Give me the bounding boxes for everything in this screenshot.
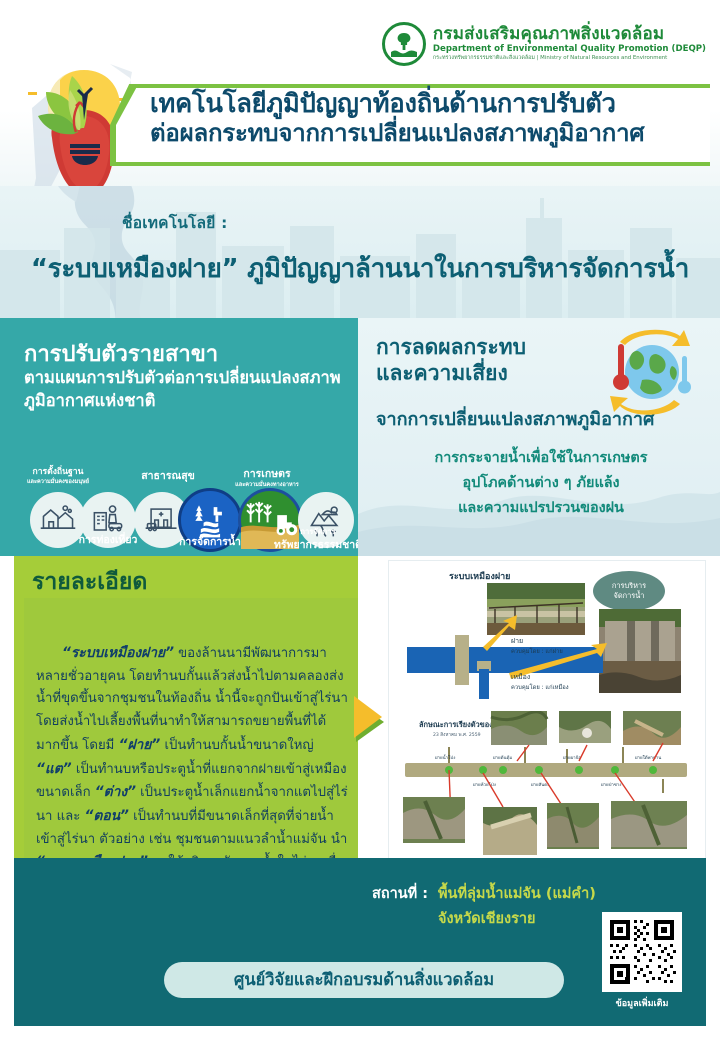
svg-text:ฝายผาจ้อ: ฝายผาจ้อ [563,755,581,761]
mitigation-body-line-2: อุปโภคด้านต่าง ๆ ภัยแล้ง [376,471,706,496]
label-canal: เหมือง [511,673,530,681]
svg-text:ฝายใต้พาดาน: ฝายใต้พาดาน [635,755,661,761]
sector-label-health: สาธารณสุข [118,470,218,482]
qr-code-icon[interactable] [602,912,682,992]
qr-caption: ข้อมูลเพิ่มเติม [602,996,682,1010]
sector-label-natural-resources: การจัดการ ทรัพยากรธรรมชาติ [264,528,372,551]
sector-adaptation-panel: การปรับตัวรายสาขา ตามแผนการปรับตัวต่อการ… [0,318,358,556]
org-ministry: กระทรวงทรัพยากรธรรมชาติและสิ่งแวดล้อม | … [433,56,706,62]
aerial-photo-bottom-1 [403,797,465,843]
page-title: เทคโนโลยีภูมิปัญญาท้องถิ่นด้านการปรับตัว… [150,90,698,146]
org-name-en: Department of Environmental Quality Prom… [433,45,706,54]
location-line-1: พื้นที่ลุ่มน้ำแม่จัน (แม่คำ) [438,882,596,905]
label-canal-sub: ควบคุมโดย : แก่เหมือง [511,683,569,691]
svg-text:ฝายสันดง: ฝายสันดง [531,782,549,788]
svg-text:จัดการน้ำ: จัดการน้ำ [614,590,645,600]
sector-label-agriculture: การเกษตร และความมั่นคงทางอาหาร [212,468,322,488]
location-label: สถานที่ : [372,882,428,905]
title-line-2: ต่อผลกระทบจากการเปลี่ยนแปลงสภาพภูมิอากาศ [150,120,698,147]
mitigation-body-line-1: การกระจายน้ำเพื่อใช้ในการเกษตร [376,446,706,471]
mitigation-panel: การลดผลกระทบ และความเสี่ยง จากการเปลี่ยน… [358,318,720,556]
label-weir: ฝาย [511,637,523,645]
sector-icon-row: การตั้งถิ่นฐาน และความมั่นคงของมนุษย์ [6,466,354,552]
water-management-badge: การบริหาร จัดการน้ำ [593,571,665,611]
cold-thermometer-icon [678,356,691,394]
qr-code-svg [606,916,678,988]
yellow-triangle-arrow-right-icon [352,692,386,744]
aerial-photo-top-2 [559,711,611,743]
figure-weir-alignment-diagram: ลักษณะการเรียงตัวของฝาย 23 สิงหาคม พ.ศ. … [391,711,705,859]
deqp-text-block: กรมส่งเสริมคุณภาพสิ่งแวดล้อม Department … [433,26,706,62]
public-health-hospital-icon [142,500,182,540]
location-line-2: จังหวัดเชียงราย [438,907,536,930]
mitigation-heading: การลดผลกระทบ และความเสี่ยง [376,334,526,387]
header-band: กรมส่งเสริมคุณภาพสิ่งแวดล้อม Department … [0,0,720,200]
sector-label-settlement: การตั้งถิ่นฐาน และความมั่นคงของมนุษย์ [8,468,108,485]
detail-heading: รายละเอียด [32,564,147,600]
org-name-th: กรมส่งเสริมคุณภาพสิ่งแวดล้อม [433,26,706,44]
figure-weir-system-diagram: ระบบเหมืองฝาย การบริหาร จัดการน้ำ [391,563,705,711]
technology-label: ชื่อเทคโนโลยี : [122,210,228,235]
deqp-emblem-icon [382,22,426,66]
center-name-pill: ศูนย์วิจัยและฝึกอบรมด้านสิ่งแวดล้อม [164,962,564,998]
figure-bottom-date: 23 สิงหาคม พ.ศ. 2559 [433,732,481,738]
mitigation-heading-line-1: การลดผลกระทบ [376,334,526,360]
svg-text:ฝายป่าซาง: ฝายป่าซาง [601,782,621,788]
weir-concrete-channel-photo [487,583,585,635]
label-weir-sub: ควบคุมโดย : แก่ฝาย [511,647,563,655]
title-banner: เทคโนโลยีภูมิปัญญาท้องถิ่นด้านการปรับตัว… [110,84,710,166]
qr-block[interactable]: ข้อมูลเพิ่มเติม [602,912,682,1010]
aerial-photo-bottom-3 [547,803,599,849]
aerial-photo-bottom-4 [611,801,687,849]
weir-block [455,635,469,685]
footer: สถานที่ : พื้นที่ลุ่มน้ำแม่จัน (แม่คำ) จ… [14,858,706,1026]
aerial-photo-top-3 [623,711,681,745]
water-wave-icon [391,49,417,57]
svg-text:ฝายห้วยโป่ง: ฝายห้วยโป่ง [473,781,496,788]
globe-thermometer-recycle-icon [594,326,702,422]
deqp-logo: กรมส่งเสริมคุณภาพสิ่งแวดล้อม Department … [382,22,706,66]
figure-panel: ระบบเหมืองฝาย การบริหาร จัดการน้ำ [388,560,706,860]
aerial-photo-top-1 [491,711,547,745]
branch-canal-bar [479,669,489,699]
mitigation-body-line-3: และความแปรปรวนของฝน [376,496,706,521]
mitigation-body: การกระจายน้ำเพื่อใช้ในการเกษตร อุปโภคด้า… [376,446,706,520]
weir-sluice-gate-photo [599,609,681,693]
svg-text:ฝายน้ำโป่ง: ฝายน้ำโป่ง [435,754,455,761]
mitigation-heading-line-2: และความเสี่ยง [376,360,526,386]
svg-text:การบริหาร: การบริหาร [612,581,646,590]
title-line-1: เทคโนโลยีภูมิปัญญาท้องถิ่นด้านการปรับตัว [150,90,698,119]
figure-top-title: ระบบเหมืองฝาย [449,570,510,582]
sector-subheading: ตามแผนการปรับตัวต่อการเปลี่ยนแปลงสภาพภูม… [24,366,344,413]
poster-root: กรมส่งเสริมคุณภาพสิ่งแวดล้อม Department … [0,0,720,1040]
svg-text:ฝายต้นตุ้ม: ฝายต้นตุ้ม [493,755,512,761]
technology-name: “ระบบเหมืองฝาย” ภูมิปัญญาล้านนาในการบริห… [0,248,720,289]
aerial-photo-bottom-2 [483,807,537,855]
technology-name-band: ชื่อเทคโนโลยี : “ระบบเหมืองฝาย” ภูมิปัญญ… [0,186,720,318]
